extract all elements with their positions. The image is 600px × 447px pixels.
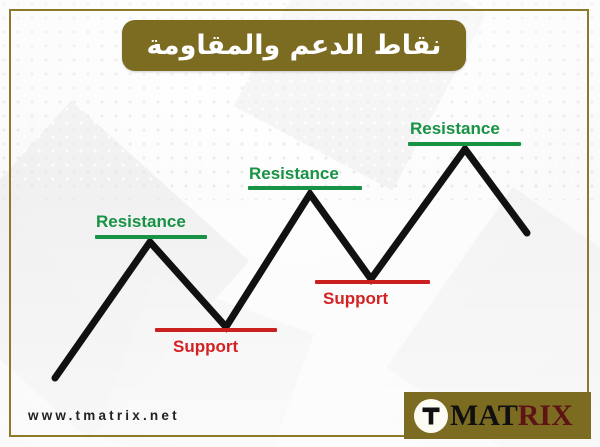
- resistance-label-3: Resistance: [410, 119, 500, 139]
- website-url[interactable]: www.tmatrix.net: [28, 408, 180, 423]
- support-label-1: Support: [173, 337, 238, 357]
- brand-logo[interactable]: MATRIX: [404, 392, 591, 439]
- logo-word-rix: RIX: [518, 399, 573, 432]
- resistance-level-line-1: [95, 235, 207, 239]
- support-level-line-1: [155, 328, 277, 332]
- resistance-label-2: Resistance: [249, 164, 339, 184]
- resistance-label-1: Resistance: [96, 212, 186, 232]
- resistance-level-line-3: [408, 142, 521, 146]
- price-line-chart: [0, 0, 600, 447]
- logo-wordmark: MATRIX: [450, 401, 573, 431]
- support-level-line-2: [315, 280, 430, 284]
- logo-t-mark-icon: [414, 399, 448, 433]
- logo-word-mat: MAT: [450, 399, 518, 432]
- resistance-level-line-2: [248, 186, 362, 190]
- poster-canvas: نقاط الدعم والمقاومة Resistance Support …: [0, 0, 600, 447]
- support-label-2: Support: [323, 289, 388, 309]
